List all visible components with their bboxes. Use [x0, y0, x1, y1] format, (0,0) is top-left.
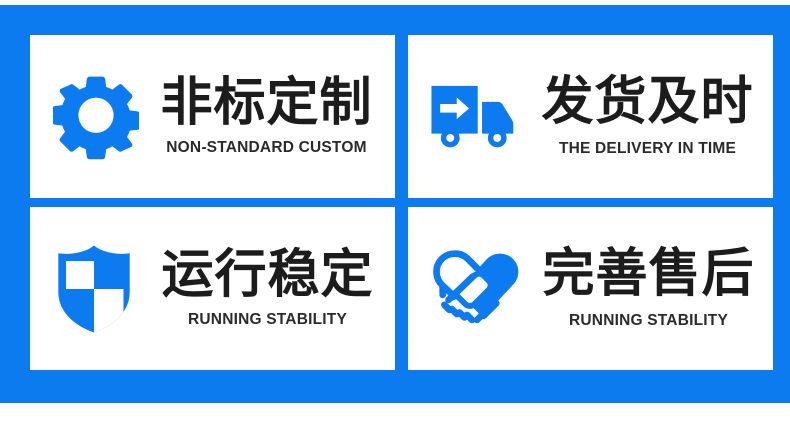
feature-card-text: 运行稳定 RUNNING STABILITY [146, 248, 395, 329]
feature-card-non-standard-custom[interactable]: 非标定制 NON-STANDARD CUSTOM [30, 35, 395, 198]
shield-icon [50, 241, 138, 337]
feature-card-after-sales-service[interactable]: 完善售后 RUNNING STABILITY [408, 207, 773, 370]
feature-title-cn: 发货及时 [541, 75, 753, 129]
feature-title-cn: 非标定制 [160, 76, 372, 130]
delivery-truck-icon [428, 79, 526, 155]
feature-title-cn: 完善售后 [542, 247, 754, 301]
feature-banner: 非标定制 NON-STANDARD CUSTOM [0, 5, 790, 403]
feature-card-text: 完善售后 RUNNING STABILITY [530, 247, 773, 330]
feature-title-en: RUNNING STABILITY [188, 311, 347, 329]
feature-card-text: 非标定制 NON-STANDARD CUSTOM [144, 76, 395, 157]
feature-card-grid: 非标定制 NON-STANDARD CUSTOM [30, 35, 760, 370]
feature-title-en: RUNNING STABILITY [569, 312, 728, 330]
feature-card-delivery-in-time[interactable]: 发货及时 THE DELIVERY IN TIME [408, 35, 773, 198]
gear-icon [50, 71, 142, 163]
handshake-heart-icon [428, 240, 526, 338]
feature-title-en: NON-STANDARD CUSTOM [166, 139, 366, 157]
feature-card-text: 发货及时 THE DELIVERY IN TIME [528, 75, 773, 158]
feature-title-cn: 运行稳定 [161, 248, 373, 302]
feature-title-en: THE DELIVERY IN TIME [559, 140, 736, 158]
feature-card-running-stability[interactable]: 运行稳定 RUNNING STABILITY [30, 207, 395, 370]
